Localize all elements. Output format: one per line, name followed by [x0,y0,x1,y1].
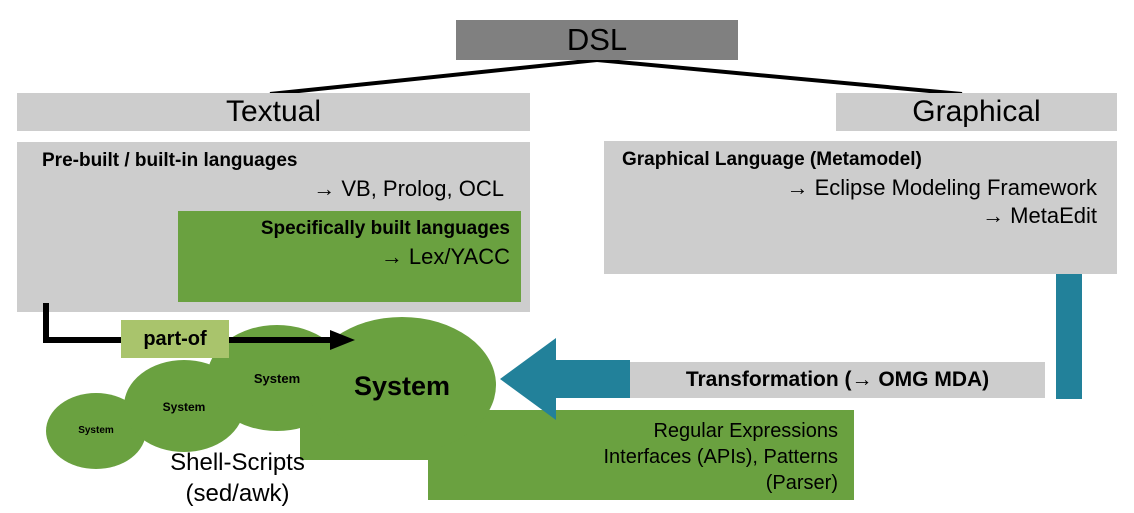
connector-line-textual [270,60,597,94]
system-blob-3-label: System [242,371,312,386]
dsl-root-box: DSL [456,20,738,60]
specific-languages-title: Specifically built languages [178,218,510,240]
graphical-language-detail-1: → Eclipse Modeling Framework [604,175,1097,201]
part-of-label: part-of [121,320,229,358]
graphical-header-box: Graphical [836,93,1117,131]
graphical-language-detail-2: → MetaEdit [604,203,1097,229]
graphical-language-title: Graphical Language (Metamodel) [622,149,922,171]
dsl-root-label: DSL [456,20,738,60]
shell-scripts-caption-line-2: (sed/awk) [130,478,345,509]
system-blob-1-label: System [66,425,126,436]
part-of-label-box: part-of [121,320,229,358]
implementation-notes-text: Regular Expressions Interfaces (APIs), P… [428,418,838,496]
diagram-canvas: DSL Textual Pre-built / built-in languag… [0,0,1134,513]
specific-languages-detail: → Lex/YACC [178,244,510,270]
system-blob-4-label: System [331,371,473,402]
implementation-note-line-3: (Parser) [428,470,838,496]
shell-scripts-caption-line-1: Shell-Scripts [130,447,345,478]
specific-languages-box: Specifically built languages → Lex/YACC [178,211,521,302]
part-of-arrow-head-icon [330,330,355,350]
prebuilt-languages-title: Pre-built / built-in languages [42,150,297,172]
transformation-box: Transformation (→ OMG MDA) [630,362,1045,398]
implementation-note-line-1: Regular Expressions [428,418,838,444]
system-blob-2-label: System [151,400,217,414]
connector-line-graphical [597,60,962,94]
transformation-arrow-icon [500,338,630,420]
textual-header-box: Textual [17,93,530,131]
prebuilt-languages-detail: → VB, Prolog, OCL [17,176,504,202]
transformation-label: Transformation (→ OMG MDA) [630,362,1045,398]
shell-scripts-caption: Shell-Scripts (sed/awk) [130,447,345,509]
textual-header-label: Textual [17,93,530,131]
teal-vertical-connector [1056,274,1082,399]
graphical-body-panel: Graphical Language (Metamodel) → Eclipse… [604,141,1117,274]
graphical-header-label: Graphical [836,93,1117,131]
implementation-note-line-2: Interfaces (APIs), Patterns [428,444,838,470]
